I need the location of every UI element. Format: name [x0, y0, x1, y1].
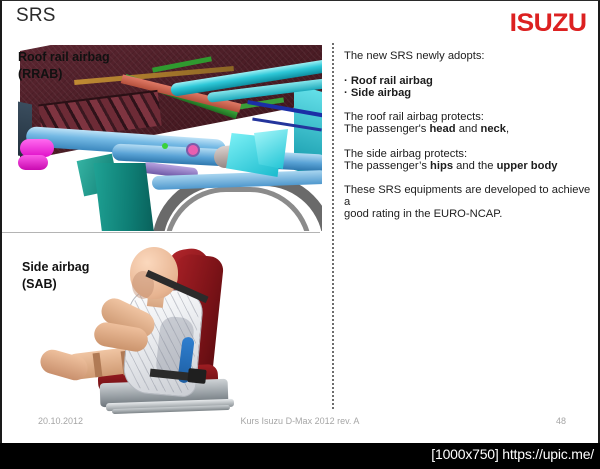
- marker-green-dot: [162, 143, 168, 149]
- horizontal-divider: [2, 232, 320, 233]
- pillar-teal-lower: [93, 163, 154, 231]
- sab-protects-body: The passenger’s hips and the upper body: [344, 161, 594, 173]
- isuzu-logo: ISUZU: [509, 9, 586, 38]
- seatbelt-buckle: [187, 368, 206, 384]
- rrab-bold-neck: neck: [480, 123, 506, 135]
- mount-bracket-cyan-2: [254, 129, 288, 169]
- sab-body-mid: and the: [453, 160, 497, 172]
- spacer-3: [344, 136, 594, 149]
- airbag-inflator-magenta-b: [18, 155, 48, 170]
- bullet-side-airbag: · Side airbag: [344, 88, 594, 100]
- rrab-body-post: ,: [506, 123, 509, 135]
- rrab-body-mid: and: [456, 123, 481, 135]
- closing-line-1: These SRS equipments are developed to ac…: [344, 185, 594, 209]
- roof-rail-airbag-label: Roof rail airbag (RRAB): [18, 49, 110, 83]
- watermark-bar: [1000x750] https://upic.me/: [0, 443, 600, 469]
- intro-line: The new SRS newly adopts:: [344, 51, 594, 63]
- rrab-bold-head: head: [429, 123, 455, 135]
- sab-bold-upper-body: upper body: [497, 160, 558, 172]
- rrab-protects-body: The passenger's head and neck,: [344, 124, 594, 136]
- sab-body-pre: The passenger’s: [344, 160, 430, 172]
- slide-canvas: SRS ISUZU Roof rail airba: [0, 0, 600, 443]
- footer-page-number: 48: [556, 416, 566, 426]
- watermark-text: [1000x750] https://upic.me/: [431, 446, 594, 462]
- bolt-pink: [188, 145, 198, 155]
- page-title: SRS: [16, 5, 56, 27]
- spacer-1: [344, 63, 594, 76]
- side-airbag-label: Side airbag (SAB): [22, 259, 89, 293]
- footer-course-title: Kurs Isuzu D-Max 2012 rev. A: [2, 416, 598, 426]
- description-text-block: The new SRS newly adopts: · Roof rail ai…: [344, 51, 594, 221]
- rrab-body-pre: The passenger's: [344, 123, 429, 135]
- closing-line-2: good rating in the EURO-NCAP.: [344, 209, 594, 221]
- bullet-roof-rail-airbag: · Roof rail airbag: [344, 76, 594, 88]
- sab-bold-hips: hips: [430, 160, 453, 172]
- vertical-dotted-divider: [332, 43, 334, 411]
